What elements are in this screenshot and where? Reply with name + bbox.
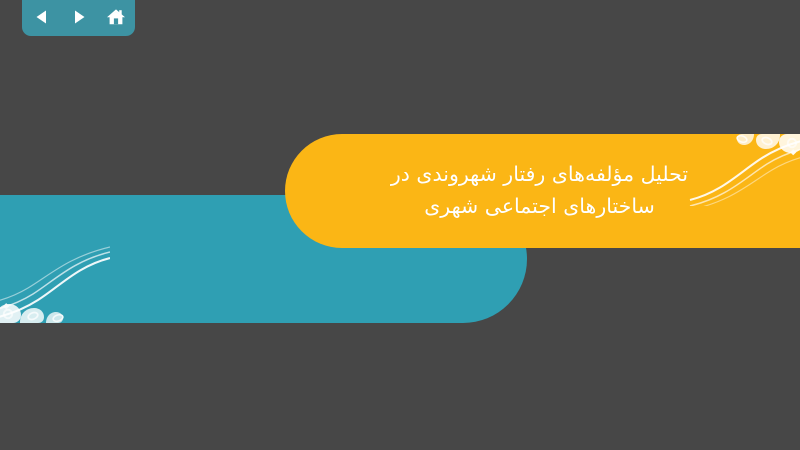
navigation-bar: [22, 0, 135, 36]
forward-arrow-icon: [70, 8, 88, 26]
home-icon: [106, 7, 126, 27]
page-title: تحلیل مؤلفه‌های رفتار شهروندی در ساختاره…: [285, 159, 800, 223]
back-arrow-icon: [33, 8, 51, 26]
home-button[interactable]: [104, 6, 127, 28]
forward-button[interactable]: [67, 6, 90, 28]
yellow-title-band: تحلیل مؤلفه‌های رفتار شهروندی در ساختاره…: [285, 134, 800, 248]
teal-arabesque-ornament: [0, 228, 110, 323]
presentation-slide: تحلیل مؤلفه‌های رفتار شهروندی در ساختاره…: [0, 0, 800, 450]
back-button[interactable]: [30, 6, 53, 28]
